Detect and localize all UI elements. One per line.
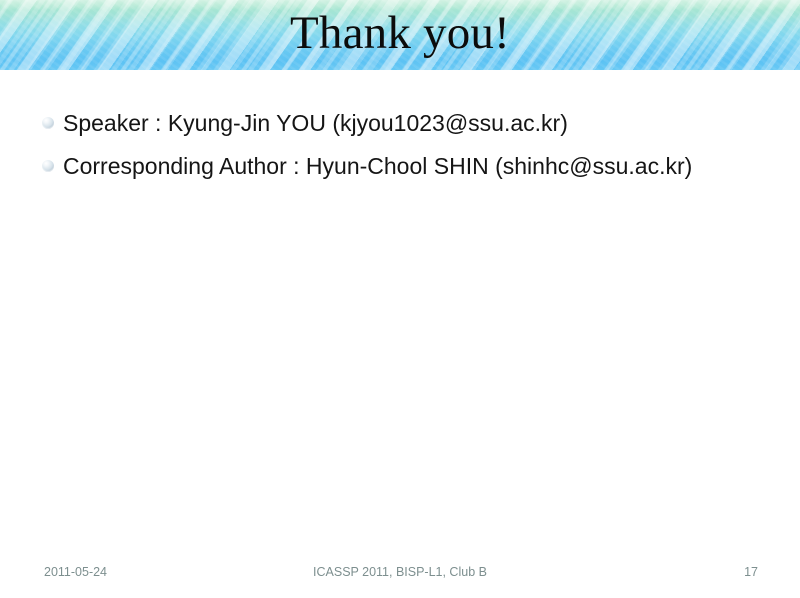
speaker-line: Speaker : Kyung-Jin YOU (kjyou1023@ssu.a… xyxy=(63,108,568,138)
bullet-list: Speaker : Kyung-Jin YOU (kjyou1023@ssu.a… xyxy=(42,108,758,194)
corresponding-author-line: Corresponding Author : Hyun-Chool SHIN (… xyxy=(63,151,692,181)
list-item: Corresponding Author : Hyun-Chool SHIN (… xyxy=(42,151,758,181)
slide: Thank you! Speaker : Kyung-Jin YOU (kjyo… xyxy=(0,0,800,598)
sphere-bullet-icon xyxy=(42,117,54,129)
sphere-bullet-icon xyxy=(42,160,54,172)
slide-footer: 2011-05-24 ICASSP 2011, BISP-L1, Club B … xyxy=(0,564,800,580)
list-item: Speaker : Kyung-Jin YOU (kjyou1023@ssu.a… xyxy=(42,108,758,138)
footer-page-number: 17 xyxy=(0,564,758,580)
slide-title: Thank you! xyxy=(0,6,800,60)
